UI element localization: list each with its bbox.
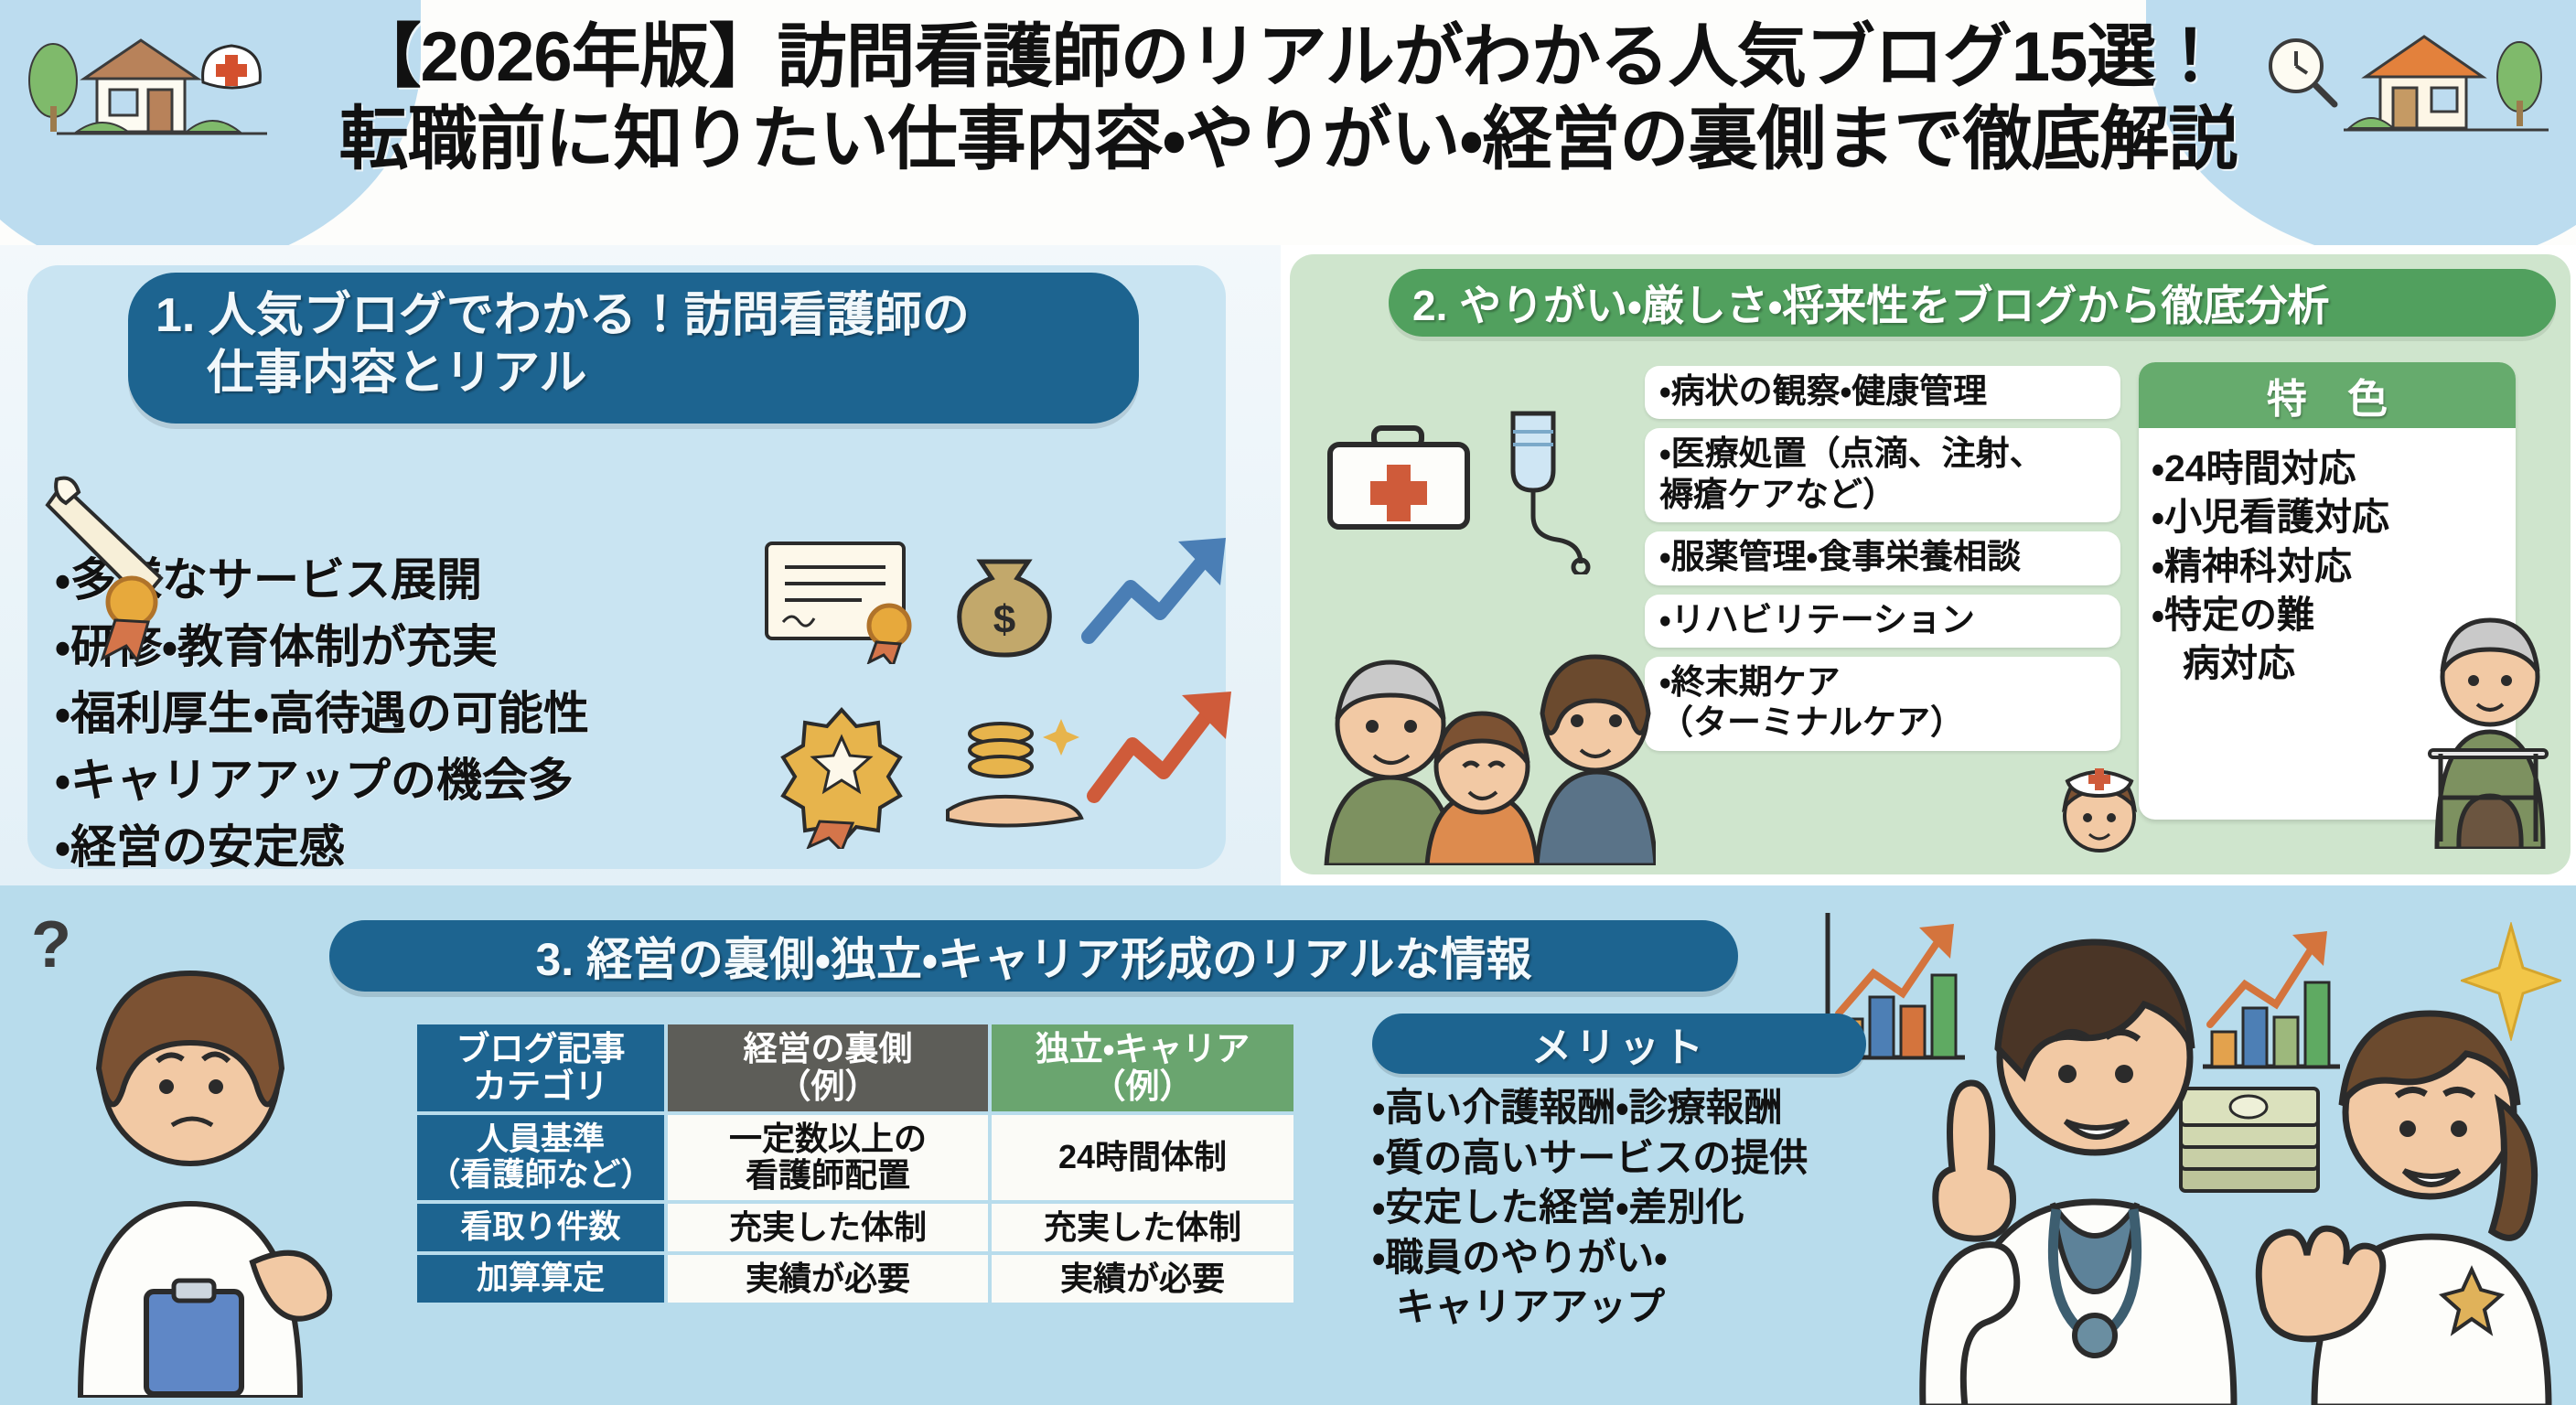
table-header-career: 独立・キャリア （例） [992,1024,1293,1111]
list-item: 経営の安定感 [55,814,842,881]
table-cell-career: 実績が必要 [992,1255,1293,1303]
table-cell-career: 充実した体制 [992,1204,1293,1251]
doctor-pointing-illustration [1903,895,2305,1405]
cell-line-1: 24時間体制 [1058,1138,1227,1175]
blog-category-table: ブログ記事 カテゴリ 経営の裏側 （例） 独立・キャリア （例） [413,1021,1297,1306]
service-text-sub: （ターミナルケア） [1659,702,2111,743]
section-3-panel: ? 3. 経営の裏側・独立・キャリア形成のリアルな情報 ブログ記事 カテゴリ [0,885,2576,1405]
features-list: 24時間対応 小児看護対応 精神科対応 特定の難 病対応 [2139,428,2516,688]
section-3-heading: 3. 経営の裏側・独立・キャリア形成のリアルな情報 [329,920,1738,992]
header-line-1: 経営の裏側 [744,1030,913,1067]
title-line-1: 【2026年版】訪問看護師のリアルがわかる人気ブログ15選！ [0,16,2576,99]
list-item: 多様なサービス展開 [55,547,842,614]
merit-list: 高い介護報酬・診療報酬 質の高いサービスの提供 安定した経営・差別化 職員のやり… [1372,1083,1958,1333]
title-line-2: 転職前に知りたい仕事内容・やりがい・経営の裏側まで徹底解説 [0,99,2576,181]
table-header-management: 経営の裏側 （例） [668,1024,988,1111]
list-item: ・病状の観察・健康管理 [1645,366,2120,419]
section-1-panel: 1. 人気ブログでわかる！訪問看護師の 仕事内容とリアル 多様なサービス展開 研… [0,245,1281,885]
table-cell-category: 看取り件数 [417,1204,664,1251]
header-line-2: カテゴリ [473,1067,608,1105]
table-row: 加算算定 実績が必要 実績が必要 [417,1255,1293,1303]
section-1-bullet-list: 多様なサービス展開 研修・教育体制が充実 福利厚生・高待遇の可能性 キャリアアッ… [55,547,842,881]
cell-line-1: 人員基準 [477,1121,605,1157]
table-cell-category: 人員基準 （看護師など） [417,1115,664,1200]
section-2-panel: 2. やりがい・厳しさ・将来性をブログから徹底分析 [1281,245,2576,885]
infographic-page: 【2026年版】訪問看護師のリアルがわかる人気ブログ15選！ 転職前に知りたい仕… [0,0,2576,1405]
section-3-heading-text: 3. 経営の裏側・独立・キャリア形成のリアルな情報 [535,923,1531,989]
list-item: 質の高いサービスの提供 [1372,1133,1958,1184]
service-text: 病状の観察・健康管理 [1671,372,1988,410]
table-cell-career: 24時間体制 [992,1115,1293,1200]
features-card: 特 色 24時間対応 小児看護対応 精神科対応 特定の難 病対応 [2139,362,2516,820]
cell-line-2: 看護師配置 [746,1156,910,1194]
list-item: キャリアアップの機会多 [55,747,842,814]
list-item: 研修・教育体制が充実 [55,614,842,681]
section-1-heading-line-2: 仕事内容とリアル [156,345,1111,402]
cell-line-2: （看護師など） [428,1157,652,1193]
features-card-header: 特 色 [2139,362,2516,428]
table-header-category: ブログ記事 カテゴリ [417,1024,664,1111]
table-cell-management: 充実した体制 [668,1204,988,1251]
sparkle-icon [2461,922,2561,1041]
merit-card: メリット 高い介護報酬・診療報酬 質の高いサービスの提供 安定した経営・差別化 … [1372,1014,1958,1333]
list-item: 福利厚生・高待遇の可能性 [55,681,842,747]
bar-chart-growth-icon-2 [2186,913,2351,1087]
list-item: 職員のやりがい・ [1372,1233,1958,1283]
list-item: ・医療処置（点滴、注射、 褥瘡ケアなど） [1645,428,2120,522]
cell-line-1: 一定数以上の [729,1120,927,1157]
list-item: 高い介護報酬・診療報酬 [1372,1083,1958,1133]
list-item: 安定した経営・差別化 [1372,1183,1958,1233]
question-mark-icon: ? [31,907,71,982]
merit-title: メリット [1531,1014,1707,1073]
section-2-service-list: ・病状の観察・健康管理 ・医療処置（点滴、注射、 褥瘡ケアなど） ・服薬管理・食… [1645,366,2120,760]
header-line-2: （例） [1092,1067,1194,1105]
list-item: 24時間対応 [2152,445,2506,493]
list-item: 特定の難 [2152,591,2506,639]
features-title: 特 色 [2252,366,2402,424]
merit-card-header: メリット [1372,1014,1866,1074]
table-cell-category: 加算算定 [417,1255,664,1303]
service-text-sub: 褥瘡ケアなど） [1659,475,2111,515]
table-row: 看取り件数 充実した体制 充実した体制 [417,1204,1293,1251]
section-1-heading: 1. 人気ブログでわかる！訪問看護師の 仕事内容とリアル [128,273,1139,424]
list-item: ・服薬管理・食事栄養相談 [1645,531,2120,585]
header-line-1: ブログ記事 [456,1030,626,1067]
table-header-row: ブログ記事 カテゴリ 経営の裏側 （例） 独立・キャリア （例） [417,1024,1293,1111]
list-item: 小児看護対応 [2152,493,2506,542]
service-text-line-1: ・ [1659,372,1671,410]
section-2-heading-text: 2. やりがい・厳しさ・将来性をブログから徹底分析 [1412,273,2329,333]
table-cell-management: 実績が必要 [668,1255,988,1303]
header-line-2: （例） [778,1067,879,1105]
header-band: 【2026年版】訪問看護師のリアルがわかる人気ブログ15選！ 転職前に知りたい仕… [0,0,2576,245]
nurse-woman-illustration [2250,968,2576,1405]
service-text: 終末期ケア [1671,663,1841,701]
cash-stack-icon [2168,1078,2333,1224]
service-text: リハビリテーション [1671,601,1975,638]
service-text: 医療処置（点滴、注射、 [1671,434,2044,472]
section-2-heading: 2. やりがい・厳しさ・将来性をブログから徹底分析 [1389,269,2556,337]
list-item: 精神科対応 [2152,542,2506,591]
table-row: 人員基準 （看護師など） 一定数以上の 看護師配置 24時間体制 [417,1115,1293,1200]
header-line-1: 独立・キャリア [1036,1030,1250,1067]
page-title: 【2026年版】訪問看護師のリアルがわかる人気ブログ15選！ 転職前に知りたい仕… [0,16,2576,180]
list-item: ・終末期ケア （ターミナルケア） [1645,657,2120,751]
nurse-woman-clipboard-illustration [37,922,375,1398]
section-1-heading-line-1: 1. 人気ブログでわかる！訪問看護師の [156,287,1111,345]
service-text: 服薬管理・食事栄養相談 [1671,538,2022,575]
table-cell-management: 一定数以上の 看護師配置 [668,1115,988,1200]
list-item-continuation: 病対応 [2152,639,2506,688]
list-item-continuation: キャリアアップ [1372,1282,1958,1333]
list-item: ・リハビリテーション [1645,595,2120,648]
